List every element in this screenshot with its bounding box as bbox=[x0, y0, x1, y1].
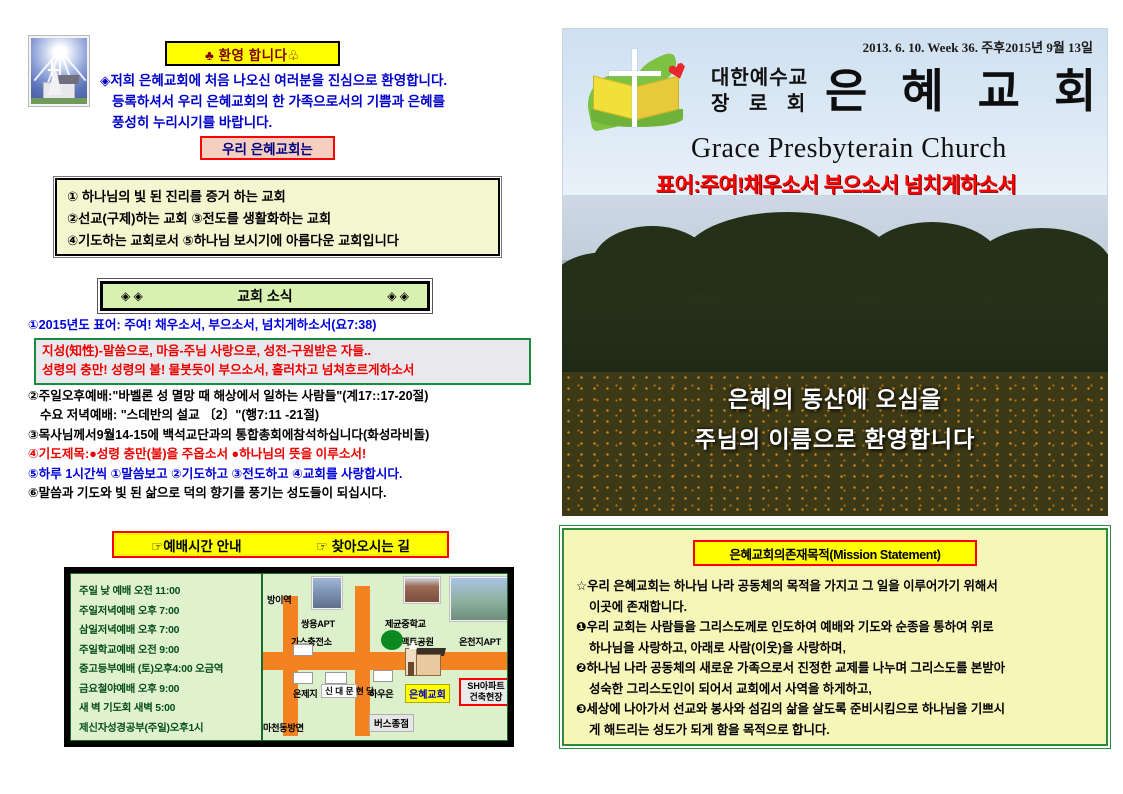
map-label-middle-school: 제균중학교 bbox=[385, 616, 426, 630]
news-item-2: ②주일오후예배:"바벨론 성 멸망 때 해상에서 일하는 사람들"(계17::1… bbox=[28, 387, 548, 407]
news-item-3: ③목사님께서9월14-15에 백석교단과의 통합총회에참석하십니다(화성라비돌) bbox=[28, 426, 548, 446]
schedule-row: 주일학교예배 오전 9:00 bbox=[79, 641, 261, 661]
right-column: 2013. 6. 10. Week 36. 주후2015년 9월 13일 대한예… bbox=[556, 0, 1123, 794]
denomination-line-2: 장 로 회 bbox=[711, 87, 812, 116]
our-church-label: 우리 은혜교회는 bbox=[200, 136, 335, 160]
mission-line: 이곳에 존재합니다. bbox=[576, 597, 1094, 618]
church-news-body: ①2015년도 표어: 주여! 채우소서, 부으소서, 넘치게하소서(요7:38… bbox=[28, 316, 548, 504]
church-name-english: Grace Presbyterain Church bbox=[691, 133, 1007, 165]
welcome-text-block: ◈저희 은혜교회에 처음 나오신 여러분을 진심으로 환영합니다. 등록하셔서 … bbox=[100, 70, 540, 133]
schedule-row: 제신자성경공부(주일)오후1시 bbox=[79, 719, 261, 739]
church-news-title: 교회 소식 bbox=[237, 286, 292, 306]
church-name-title: 은 혜 교 회 bbox=[825, 55, 1105, 121]
map-building-box bbox=[325, 672, 347, 684]
church-banner: 2013. 6. 10. Week 36. 주후2015년 9월 13일 대한예… bbox=[562, 28, 1108, 196]
church-logo-icon bbox=[585, 51, 695, 143]
worship-schedule-list: 주일 낮 예배 오전 11:00 주일저녁예배 오후 7:00 삼일저녁예배 오… bbox=[70, 573, 262, 741]
map-label-ssangyong-apt: 쌍용APT bbox=[301, 616, 335, 630]
map-label-bangi-station: 방이역 bbox=[267, 592, 291, 606]
mission-line: ❷하나님 나라 공동체의 새로운 가족으로서 진정한 교제를 나누며 그리스도를… bbox=[576, 658, 1094, 679]
bulletin-page: ♣ 환영 합니다♧ ◈저희 은혜교회에 처음 나오신 여러분을 진심으로 환영합… bbox=[0, 0, 1123, 794]
church-photo-thumbnail bbox=[28, 35, 90, 107]
map-photo-riverside-apt bbox=[449, 576, 508, 622]
map-label-daemun-building: 신 대 문 현 당 bbox=[321, 684, 357, 698]
map-label-oncheonji-apt: 온천지APT bbox=[459, 634, 501, 648]
church-slogan: 표어:주여!채우소서 부으소서 넘치게하소서 bbox=[571, 169, 1101, 196]
mission-line: 하나님을 사랑하고, 아래로 사람(이웃)을 사랑하며, bbox=[576, 638, 1094, 659]
mission-line: 성숙한 그리스도인이 되어서 교회에서 사역을 하게하고, bbox=[576, 679, 1094, 700]
schedule-row: 주일 낮 예배 오전 11:00 bbox=[79, 582, 261, 602]
schedule-row: 금요철야예배 오후 9:00 bbox=[79, 680, 261, 700]
schedule-row: 중고등부예배 (토)오후4:00 오금역 bbox=[79, 660, 261, 680]
mission-line: 게 해드리는 성도가 되게 함을 목적으로 합니다. bbox=[576, 720, 1094, 741]
map-building-box bbox=[293, 672, 313, 684]
map-label-bus-terminal: 버스종점 bbox=[369, 714, 414, 732]
bulletin-date: 2013. 6. 10. Week 36. 주후2015년 9월 13일 bbox=[863, 37, 1093, 56]
news-item-6: ⑥말씀과 기도와 빛 된 삶으로 덕의 향기를 풍기는 성도들이 되십시다. bbox=[28, 484, 548, 504]
schedule-row: 주일저녁예배 오후 7:00 bbox=[79, 602, 261, 622]
map-label-macheon-direction: 마천동방면 bbox=[263, 720, 304, 734]
worship-time-label: ☞예배시간 안내 bbox=[151, 535, 241, 555]
schedule-row: 새 벽 기도회 새벽 5:00 bbox=[79, 699, 261, 719]
news-item-4: ④기도제목:●성령 충만(불)을 주옵소서 ●하나님의 뜻을 이루소서! bbox=[28, 445, 548, 465]
welcome-banner: ♣ 환영 합니다♧ bbox=[165, 41, 340, 66]
map-marker-grace-church: 은혜교회 bbox=[405, 684, 450, 703]
road-vertical-mid bbox=[355, 586, 370, 736]
location-map: 방이역 쌍용APT 가스충전소 제균중학교 맥토공원 온천지APT 온제지 마천… bbox=[262, 573, 508, 741]
map-label-onjeji: 온제지 bbox=[293, 686, 317, 700]
map-photo-school bbox=[403, 576, 441, 604]
news-item-1: ①2015년도 표어: 주여! 채우소서, 부으소서, 넘치게하소서(요7:38… bbox=[28, 316, 548, 336]
verse-highlight-box: 지성(知性)-말씀으로, 마음-주님 사랑으로, 성전-구원받은 자들.. 성령… bbox=[34, 338, 531, 385]
photo-welcome-line-1: 은혜의 동산에 오심을 bbox=[562, 380, 1108, 414]
schedule-row: 삼일저녁예배 오후 7:00 bbox=[79, 621, 261, 641]
verse-line-1: 지성(知性)-말씀으로, 마음-주님 사랑으로, 성전-구원받은 자들.. bbox=[42, 342, 523, 362]
mission-line: ❶우리 교회는 사람들을 그리스도께로 인도하여 예배와 기도와 순종을 통하여… bbox=[576, 617, 1094, 638]
principle-line-3: ④기도하는 교회로서 ⑤하나님 보시기에 아름다운 교회입니다 bbox=[67, 230, 488, 252]
mission-statement-box: 은혜교회의존재목적(Mission Statement) ☆우리 은혜교회는 하… bbox=[562, 528, 1108, 746]
mission-statement-title: 은혜교회의존재목적(Mission Statement) bbox=[693, 540, 977, 566]
park-circle-icon bbox=[381, 630, 403, 650]
welcome-line-2: 등록하셔서 우리 은혜교회의 한 가족으로서의 기쁨과 은혜를 bbox=[100, 91, 540, 112]
road-vertical-left bbox=[283, 596, 298, 736]
principle-line-1: ① 하나님의 빛 된 진리를 증거 하는 교회 bbox=[67, 186, 488, 208]
worship-map-frame: 주일 낮 예배 오전 11:00 주일저녁예배 오후 7:00 삼일저녁예배 오… bbox=[64, 567, 514, 747]
diamond-icon-left: ◈ ◈ bbox=[121, 289, 143, 303]
welcome-line-1: ◈저희 은혜교회에 처음 나오신 여러분을 진심으로 환영합니다. bbox=[100, 70, 540, 91]
church-illustration bbox=[31, 38, 87, 104]
directions-label: ☞ 찾아오시는 길 bbox=[316, 535, 410, 555]
verse-line-2: 성령의 충만! 성령의 불! 물붓듯이 부으소서, 흘러차고 넘쳐흐르게하소서 bbox=[42, 361, 523, 381]
welcome-line-3: 풍성히 누리시기를 바랍니다. bbox=[100, 112, 540, 133]
principle-line-2: ②선교(구제)하는 교회 ③전도를 생활화하는 교회 bbox=[67, 208, 488, 230]
mission-line: ☆우리 은혜교회는 하나님 나라 공동체의 목적을 가지고 그 일을 이루어가기… bbox=[576, 576, 1094, 597]
photo-welcome-line-2: 주님의 이름으로 환영합니다 bbox=[562, 420, 1108, 454]
mission-line: ❸세상에 나아가서 선교와 봉사와 섬김의 삶을 살도록 준비시킴으로 하나님을… bbox=[576, 699, 1094, 720]
map-photo-apartment bbox=[311, 576, 343, 610]
church-principles-box: ① 하나님의 빛 된 진리를 증거 하는 교회 ②선교(구제)하는 교회 ③전도… bbox=[55, 178, 500, 256]
church-news-header: ◈ ◈ 교회 소식 ◈ ◈ bbox=[100, 281, 430, 311]
news-item-5: ⑤하루 1시간씩 ①말씀보고 ②기도하고 ③전도하고 ④교회를 사랑합시다. bbox=[28, 465, 548, 485]
church-building-icon bbox=[405, 644, 451, 684]
diamond-icon-right: ◈ ◈ bbox=[387, 289, 409, 303]
map-building-box bbox=[293, 644, 313, 656]
map-building-box bbox=[373, 670, 393, 682]
map-label-sh-apartment-site: SH아파트건축현장 bbox=[459, 678, 508, 706]
news-item-2b: 수요 저녁예배: "스데반의 설교 〔2〕"(행7:11 -21절) bbox=[28, 406, 548, 426]
landscape-photo: 은혜의 동산에 오심을 주님의 이름으로 환영합니다 bbox=[562, 196, 1108, 516]
left-column: ♣ 환영 합니다♧ ◈저희 은혜교회에 처음 나오신 여러분을 진심으로 환영합… bbox=[0, 0, 556, 794]
worship-map-header: ☞예배시간 안내 ☞ 찾아오시는 길 bbox=[112, 531, 449, 558]
denomination-line-1: 대한예수교 bbox=[711, 61, 808, 90]
